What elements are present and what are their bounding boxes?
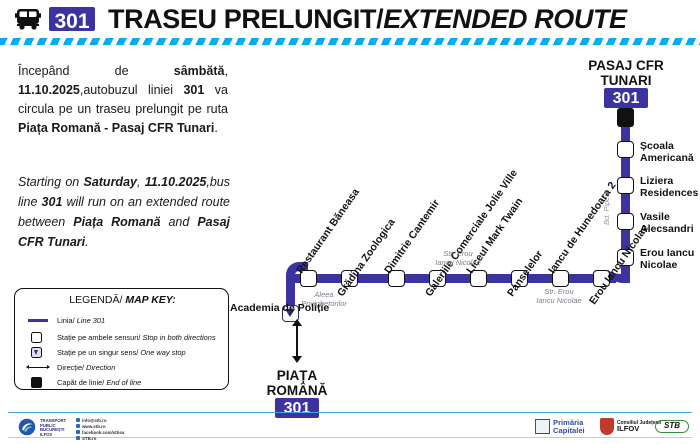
legend-title-ro: LEGENDĂ/ <box>69 294 122 306</box>
station-liziera-residences[interactable] <box>617 177 634 194</box>
notice-en-1b: Saturday <box>83 175 137 189</box>
notice-ro-1b: sâmbătă <box>174 64 225 78</box>
terminus-south-badge: 301 <box>275 398 319 418</box>
station-vasile-alecsandri[interactable] <box>617 213 634 230</box>
notice-en-2g: . <box>85 235 88 249</box>
primaria-capitalei-logo-icon <box>535 419 550 434</box>
bus-icon <box>14 8 42 30</box>
page-title-ro: TRASEU PRELUNGIT/ <box>108 4 383 34</box>
legend-row-endline-ro: Capăt de linie/ <box>57 378 106 387</box>
header-route-badge: 301 <box>49 7 95 31</box>
legend-row-endline-en: End of line <box>106 378 141 387</box>
notice-en-2e: and <box>160 215 197 229</box>
legend-row-direction-text: Direcție/ Direction <box>57 363 115 372</box>
notice-en-1d: 11.10.2025 <box>145 175 207 189</box>
station-label-scoala-americana-l1: Școala <box>640 140 674 152</box>
notice-en-2b: 301 <box>42 195 63 209</box>
street-3-l1: Aleea <box>314 290 333 299</box>
poster-root: 301 TRASEU PRELUNGIT/EXTENDED ROUTE Înce… <box>0 0 700 444</box>
primaria-l2: Capitalei <box>553 426 585 435</box>
cj-l2: ILFOV <box>617 424 639 433</box>
legend-row-direction-en: Direction <box>86 363 115 372</box>
station-end-of-line-north[interactable] <box>617 108 634 127</box>
legend-row-line-ro: Linia/ <box>57 316 77 325</box>
street-1-l2: Iancu Nicolae <box>435 258 480 267</box>
terminus-north-badge: 301 <box>604 88 648 108</box>
footer-divider-top <box>8 412 692 413</box>
contact-app-text: STB.ro <box>82 436 96 441</box>
legend-row-line-en: Line 301 <box>77 316 105 325</box>
legend-row-both-en: Stop in both directions <box>142 333 215 342</box>
direction-arrow-icon <box>27 362 49 373</box>
station-label-vasile-l1: Vasile <box>640 211 670 223</box>
station-label-gradina-zoologica: Grădina Zoologica <box>335 216 398 298</box>
station-label-erou-iancu-nicolae-vert: Erou Iancu Nicolae <box>640 247 694 271</box>
terminus-north-line1: PASAJ CFR <box>588 58 664 73</box>
stb-logo: STB <box>655 420 689 433</box>
contact-app[interactable]: STB.ro <box>76 436 124 442</box>
notice-romanian: Începând de sâmbătă, 11.10.2025,autobuzu… <box>18 62 228 138</box>
contact-facebook-text: facebook.com/stbsa <box>82 430 124 435</box>
station-label-erou-v-l2: Nicolae <box>640 259 677 271</box>
terminus-north-line2: TUNARI <box>601 73 652 88</box>
terminus-south-label: PIAȚA ROMÂNĂ <box>227 368 367 398</box>
direction-arrow-icon <box>296 326 298 356</box>
consiliul-judetean-ilfov-logo-icon <box>600 418 614 435</box>
operator-name-l4: ILFOV <box>40 432 52 437</box>
legend-title-en: MAP KEY: <box>125 294 175 306</box>
legend-row-oneway-ro: Stație pe un singur sens/ <box>57 348 140 357</box>
terminus-south-line1: PIAȚA <box>277 368 318 383</box>
legend-box: LEGENDĂ/ MAP KEY: Linia/ Line 301 Stație… <box>14 288 229 390</box>
legend-row-direction-ro: Direcție/ <box>57 363 86 372</box>
footer-contacts: info@stb.ro www.stb.ro facebook.com/stbs… <box>76 418 124 442</box>
station-label-restaurant-baneasa: Restaurant Băneasa <box>294 186 362 276</box>
street-label-str-erou-iancu-nicolae-1: Str. Erou Iancu Nicolae <box>423 249 493 267</box>
street-2-l2: Iancu Nicolae <box>536 296 581 305</box>
station-label-liziera-l2: Residences <box>640 187 698 199</box>
station-scoala-americana[interactable] <box>617 141 634 158</box>
page-title-en: EXTENDED ROUTE <box>383 4 626 34</box>
station-label-liziera-l1: Liziera <box>640 175 673 187</box>
station-label-academia-de-politie: Academia de Poliție <box>230 302 278 314</box>
contact-website-text: www.stb.ro <box>82 424 106 429</box>
legend-row-oneway-en: One way stop <box>140 348 185 357</box>
notice-en-2d: Piața Romană <box>73 215 160 229</box>
notice-ro-2a: autobuzul liniei <box>83 83 183 97</box>
station-label-erou-v-l1: Erou Iancu <box>640 247 694 259</box>
operator-name: TRANSPORT PUBLIC BUCUREȘTI ILFOV <box>40 419 66 437</box>
one-way-stop-icon <box>27 347 49 358</box>
legend-row-line-text: Linia/ Line 301 <box>57 316 105 325</box>
page-title: TRASEU PRELUNGIT/EXTENDED ROUTE <box>108 4 627 35</box>
street-1-l1: Str. Erou <box>443 249 472 258</box>
legend-row-endline-text: Capăt de linie/ End of line <box>57 378 141 387</box>
header: 301 TRASEU PRELUNGIT/EXTENDED ROUTE <box>0 0 700 36</box>
notice-ro-1d: 11.10.2025 <box>18 83 80 97</box>
notice-english: Starting on Saturday, 11.10.2025,bus lin… <box>18 172 230 252</box>
legend-row-oneway-text: Stație pe un singur sens/ One way stop <box>57 348 186 357</box>
station-label-scoala-americana: Școala Americană <box>640 140 694 164</box>
end-of-line-icon <box>27 377 49 388</box>
primaria-capitalei-label: Primăria Capitalei <box>553 419 585 435</box>
line-swatch-icon <box>27 315 49 326</box>
station-box-icon <box>27 332 49 343</box>
notice-en-1c: , <box>137 175 145 189</box>
notice-ro-2b: 301 <box>183 83 204 97</box>
notice-ro-1a: Începând de <box>18 64 174 78</box>
station-label-scoala-americana-l2: Americană <box>640 152 694 164</box>
street-2-l1: Str. Erou <box>544 287 573 296</box>
terminus-north-label: PASAJ CFR TUNARI <box>556 58 696 88</box>
notice-ro-2d: Piața Romană - Pasaj CFR Tunari <box>18 121 214 135</box>
notice-ro-1c: , <box>225 64 228 78</box>
terminus-south-line2: ROMÂNĂ <box>267 383 328 398</box>
street-label-str-erou-iancu-nicolae-2: Str. Erou Iancu Nicolae <box>524 287 594 305</box>
legend-row-both-ro: Stație pe ambele sensuri/ <box>57 333 142 342</box>
contact-email-text: info@stb.ro <box>82 418 107 423</box>
header-stripe-divider <box>0 38 700 45</box>
notice-en-1a: Starting on <box>18 175 83 189</box>
stb-operator-logo-icon <box>18 418 36 436</box>
station-label-liziera-residences: Liziera Residences <box>640 175 698 199</box>
legend-title: LEGENDĂ/ MAP KEY: <box>15 294 230 306</box>
legend-row-both-text: Stație pe ambele sensuri/ Stop in both d… <box>57 333 216 342</box>
notice-ro-2e: . <box>214 121 217 135</box>
